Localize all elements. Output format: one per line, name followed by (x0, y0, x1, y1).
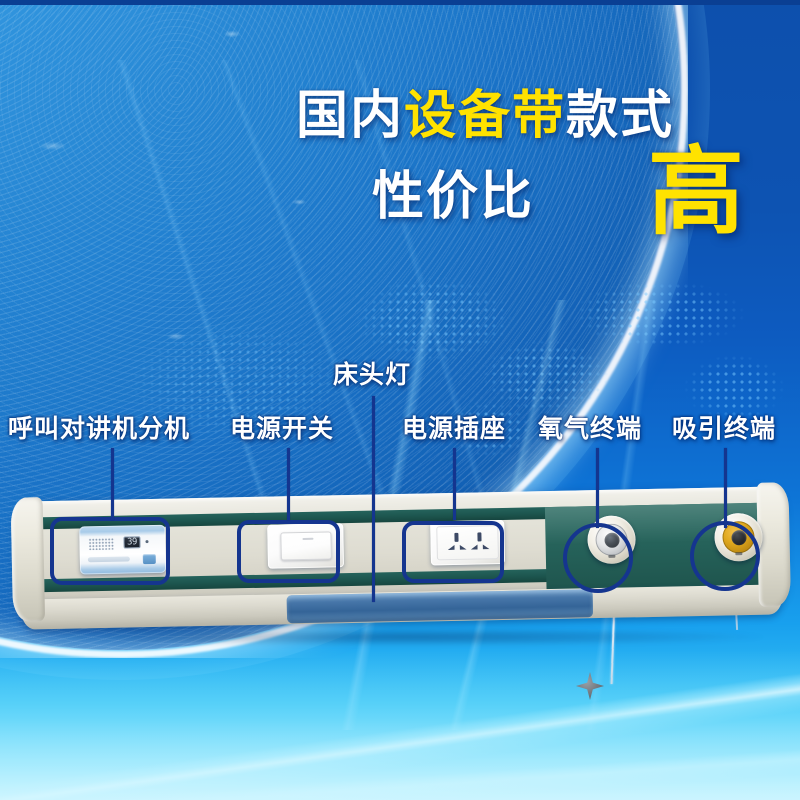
power-socket-plate[interactable] (430, 520, 505, 565)
headline-line1-part3: 款式 (566, 87, 674, 145)
power-switch-plate[interactable] (267, 523, 344, 569)
status-led-icon (145, 540, 148, 543)
callout-label-power-switch: 电源开关 (230, 414, 334, 444)
headline-line-2: 性价比 (372, 168, 534, 226)
oxygen-terminal-ring (595, 523, 628, 556)
headline-line1-part2: 设备带 (404, 87, 566, 145)
panel-end-cap-right (756, 482, 790, 607)
oxygen-terminal-marking (608, 555, 615, 558)
callout-label-bed-lamp: 床头灯 (333, 360, 411, 390)
bed-head-unit-panel: 39 (17, 486, 786, 641)
oxygen-terminal-core (604, 532, 619, 547)
intercom-slot (88, 556, 130, 562)
bottom-glow (0, 650, 800, 800)
intercom-display: 39 (123, 536, 140, 548)
callout-label-suction-terminal: 吸引终端 (672, 414, 776, 444)
panel-end-cap-left (11, 497, 45, 622)
leader-line-power-socket (453, 448, 456, 520)
callout-label-intercom: 呼叫对讲机分机 (8, 414, 190, 444)
socket-pin-left-icon (471, 544, 478, 549)
callout-label-power-socket: 电源插座 (402, 414, 506, 444)
leader-line-suction-terminal (724, 448, 727, 528)
leader-line-oxygen-terminal (596, 448, 599, 528)
socket-pinset-right (468, 532, 492, 554)
suction-terminal-core (731, 530, 746, 545)
headline-emphasis-char: 高 (648, 145, 744, 241)
top-band (0, 0, 800, 5)
leader-line-bed-lamp (372, 396, 375, 602)
socket-pin-right-icon (483, 544, 490, 549)
leader-line-power-switch (287, 448, 290, 520)
promo-banner: 国内设备带款式 性价比 高 呼叫对讲机分机 电源开关 床头灯 电源插座 氧气终端… (0, 0, 800, 800)
nurse-call-intercom-unit[interactable]: 39 (79, 525, 166, 575)
callout-label-oxygen-terminal: 氧气终端 (538, 414, 642, 444)
socket-pin-left-icon (448, 545, 455, 550)
power-switch-rocker[interactable] (280, 531, 332, 560)
headline-line-1: 国内设备带款式 (296, 88, 674, 144)
socket-pinset-left (445, 533, 469, 555)
leader-line-intercom (111, 448, 114, 520)
socket-pin-vertical-icon (477, 532, 481, 541)
speaker-grille-icon (88, 538, 114, 551)
suction-terminal-ring (722, 521, 755, 554)
intercom-call-button[interactable] (143, 554, 156, 564)
socket-pin-vertical-icon (454, 533, 458, 542)
power-socket-face (436, 525, 499, 560)
halftone-world-map-secondary (60, 300, 380, 480)
socket-pin-right-icon (460, 545, 467, 550)
switch-notch-icon (302, 538, 313, 540)
suction-terminal-marking (735, 552, 742, 555)
headline-line1-part1: 国内 (296, 87, 404, 145)
